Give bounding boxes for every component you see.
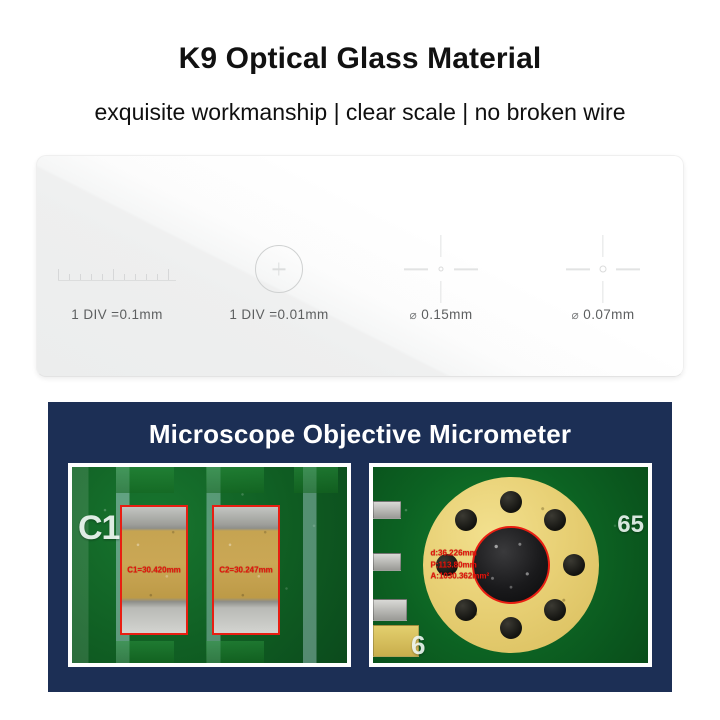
pad-hole [544,599,566,621]
page-title: K9 Optical Glass Material [0,42,720,75]
glass-slide-edge [36,155,684,377]
page-subtitle: exquisite workmanship | clear scale | no… [0,99,720,125]
measurement-label-perimeter: P:113.80mm [431,559,490,571]
pad-hole [544,509,566,531]
panel-title: Microscope Objective Micrometer [48,402,672,447]
measurement-label-c2: C2=30.247mm [219,566,273,575]
pad-hole [500,617,522,639]
smd-capacitor-2: C2=30.247mm [212,505,280,635]
measurement-label-diameter: d:36.226mm [431,548,490,560]
page-header: K9 Optical Glass Material exquisite work… [0,0,720,125]
measurement-annotations: d:36.226mm P:113.80mm A:1030.362mm² [431,548,490,583]
pad-hole [563,554,585,576]
measurement-label-area: A:1030.362mm² [431,571,490,583]
photo-gallery: C13 C1=30.420mm C2=30.247mm 6 65 [48,447,672,667]
photo-smd-capacitor-measurement: C13 C1=30.420mm C2=30.247mm [68,463,351,667]
pad-hole [500,491,522,513]
circular-gold-pad: d:36.226mm P:113.80mm A:1030.362mm² [423,477,599,653]
silkscreen-label-65: 65 [617,511,644,539]
photo-circular-pad-measurement: 6 65 d:36.226mm P:113.80mm A:1030.3 [369,463,652,667]
silkscreen-label-6: 6 [411,630,425,661]
pcb-texture [72,467,347,663]
glass-slide: 1 DIV =0.1mm 1 DIV =0.01mm [36,155,684,377]
smd-capacitor-1: C1=30.420mm [120,505,188,635]
measurement-label-c1: C1=30.420mm [127,566,181,575]
glass-slide-body: 1 DIV =0.1mm 1 DIV =0.01mm [36,155,684,377]
pad-hole [455,599,477,621]
feature-panel: Microscope Objective Micrometer C13 C1=3… [48,402,672,692]
